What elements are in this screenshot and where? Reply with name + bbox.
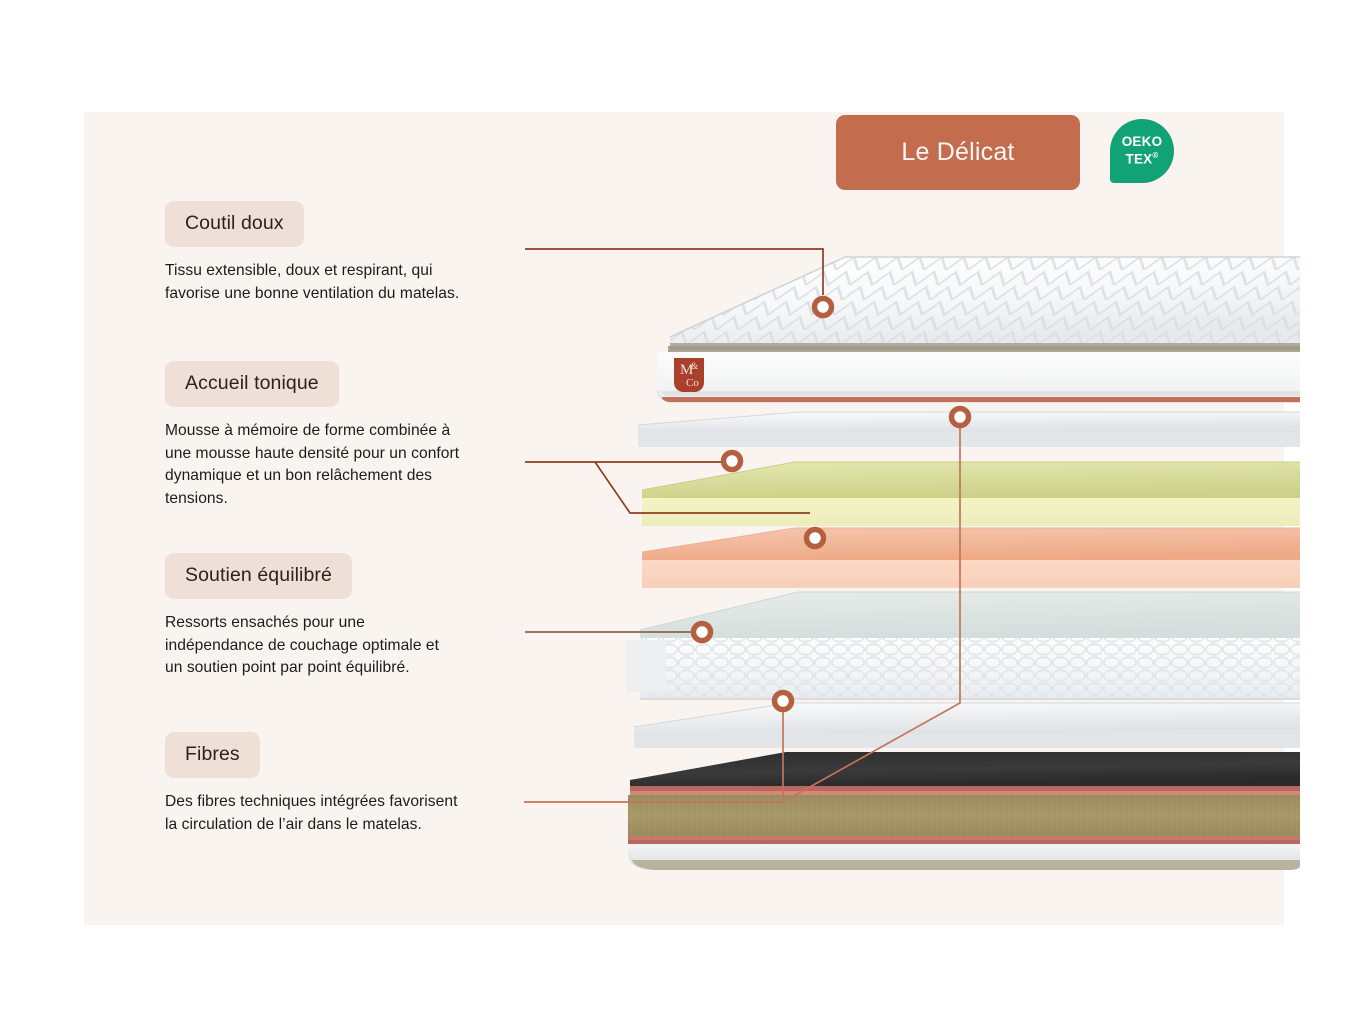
page-title: Le Délicat — [901, 138, 1014, 167]
layer-fiber-upper — [638, 412, 1300, 447]
feature-description-soutien-equilibre: Ressorts ensachés pour une indépendance … — [165, 612, 525, 680]
layer-fiber-lower — [634, 703, 1300, 748]
feature-block-coutil-doux: Coutil doux Tissu extensible, doux et re… — [165, 201, 525, 305]
feature-block-fibres: Fibres Des fibres techniques intégrées f… — [165, 732, 525, 836]
layer-high-density-foam — [642, 528, 1300, 588]
badge-line-2: TEX® — [1126, 149, 1159, 167]
feature-block-soutien-equilibre: Soutien équilibré Ressorts ensachés pour… — [165, 553, 525, 680]
layer-mattress-base — [628, 752, 1300, 870]
mattress-exploded-illustration: M & Co — [610, 240, 1300, 870]
feature-label-accueil-tonique: Accueil tonique — [165, 361, 339, 407]
feature-description-coutil-doux: Tissu extensible, doux et respirant, qui… — [165, 260, 525, 305]
badge-line-1: OEKO — [1122, 135, 1163, 149]
feature-block-accueil-tonique: Accueil tonique Mousse à mémoire de form… — [165, 361, 525, 510]
product-title-pill: Le Délicat — [836, 115, 1080, 190]
feature-label-soutien-equilibre: Soutien équilibré — [165, 553, 352, 599]
layer-pocket-springs — [626, 592, 1300, 700]
badge-registered-symbol: ® — [1152, 151, 1158, 160]
feature-description-accueil-tonique: Mousse à mémoire de forme combinée à une… — [165, 420, 525, 510]
brand-logo-badge: M & Co — [674, 358, 704, 392]
layer-quilted-cover: M & Co — [658, 257, 1300, 402]
svg-text:&: & — [691, 361, 698, 371]
oeko-tex-badge: OEKO TEX® — [1110, 119, 1174, 183]
feature-label-fibres: Fibres — [165, 732, 260, 778]
feature-label-coutil-doux: Coutil doux — [165, 201, 304, 247]
infographic-stage: M & Co — [0, 0, 1368, 1026]
svg-text:Co: Co — [686, 377, 699, 389]
feature-description-fibres: Des fibres techniques intégrées favorise… — [165, 791, 525, 836]
layer-memory-foam — [642, 462, 1300, 526]
